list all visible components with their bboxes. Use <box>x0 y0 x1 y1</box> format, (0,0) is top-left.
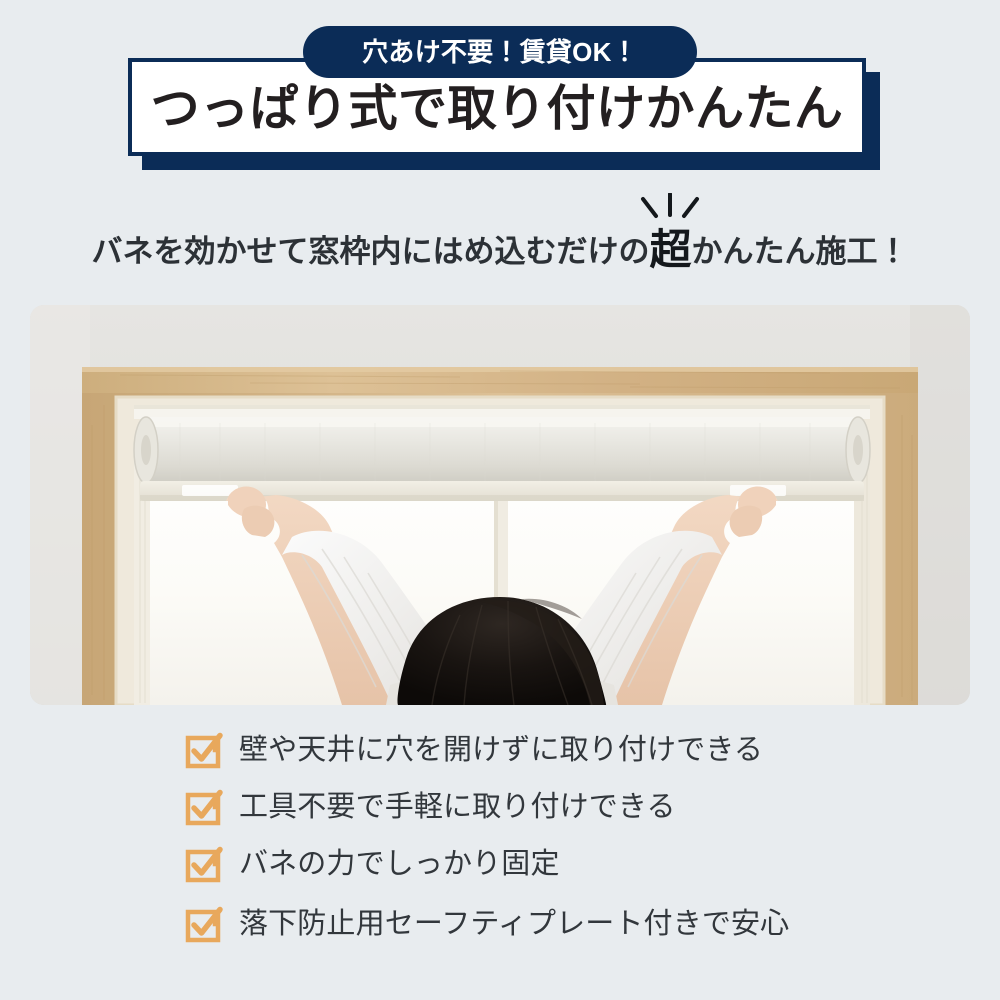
checkbox-checked-icon <box>185 790 221 826</box>
list-item: 工具不要で手軽に取り付けできる <box>0 779 1000 836</box>
subtitle-emphasis-wrap: 超 <box>649 227 691 269</box>
page-title: つっぱり式で取り付けかんたん <box>151 85 844 134</box>
subtitle-before: バネを効かせて窓枠内にはめ込むだけの <box>91 236 649 267</box>
list-item-label: 工具不要で手軽に取り付けできる <box>239 793 676 822</box>
list-item: 落下防止用セーフティプレート付きで安心 <box>0 896 1000 953</box>
list-item-label: 落下防止用セーフティプレート付きで安心 <box>239 910 789 939</box>
photo-illustration <box>30 305 970 705</box>
list-item: バネの力でしっかり固定 <box>0 836 1000 893</box>
checkbox-checked-icon <box>185 847 221 883</box>
subtitle: バネを効かせて窓枠内にはめ込むだけの超かんたん施工！ <box>91 227 908 269</box>
subtitle-after: かんたん施工！ <box>692 236 909 267</box>
product-installation-photo <box>30 305 970 705</box>
subtitle-emphasis: 超 <box>649 229 691 271</box>
badge-label: 穴あけ不要！賃貸OK！ <box>362 39 638 65</box>
checkbox-checked-icon <box>185 907 221 943</box>
subtitle-row: バネを効かせて窓枠内にはめ込むだけの超かんたん施工！ <box>0 186 1000 286</box>
checkbox-checked-icon <box>185 733 221 769</box>
status-badge: 穴あけ不要！賃貸OK！ <box>303 26 697 78</box>
sparkle-icon <box>634 193 706 223</box>
header-banner: つっぱり式で取り付けかんたん 穴あけ不要！賃貸OK！ <box>0 0 1000 185</box>
list-item-label: 壁や天井に穴を開けずに取り付けできる <box>239 736 763 765</box>
list-item: 壁や天井に穴を開けずに取り付けできる <box>0 722 1000 779</box>
feature-checklist: 壁や天井に穴を開けずに取り付けできる 工具不要で手軽に取り付けできる バネの力で… <box>0 722 1000 953</box>
list-item-label: バネの力でしっかり固定 <box>239 850 560 879</box>
